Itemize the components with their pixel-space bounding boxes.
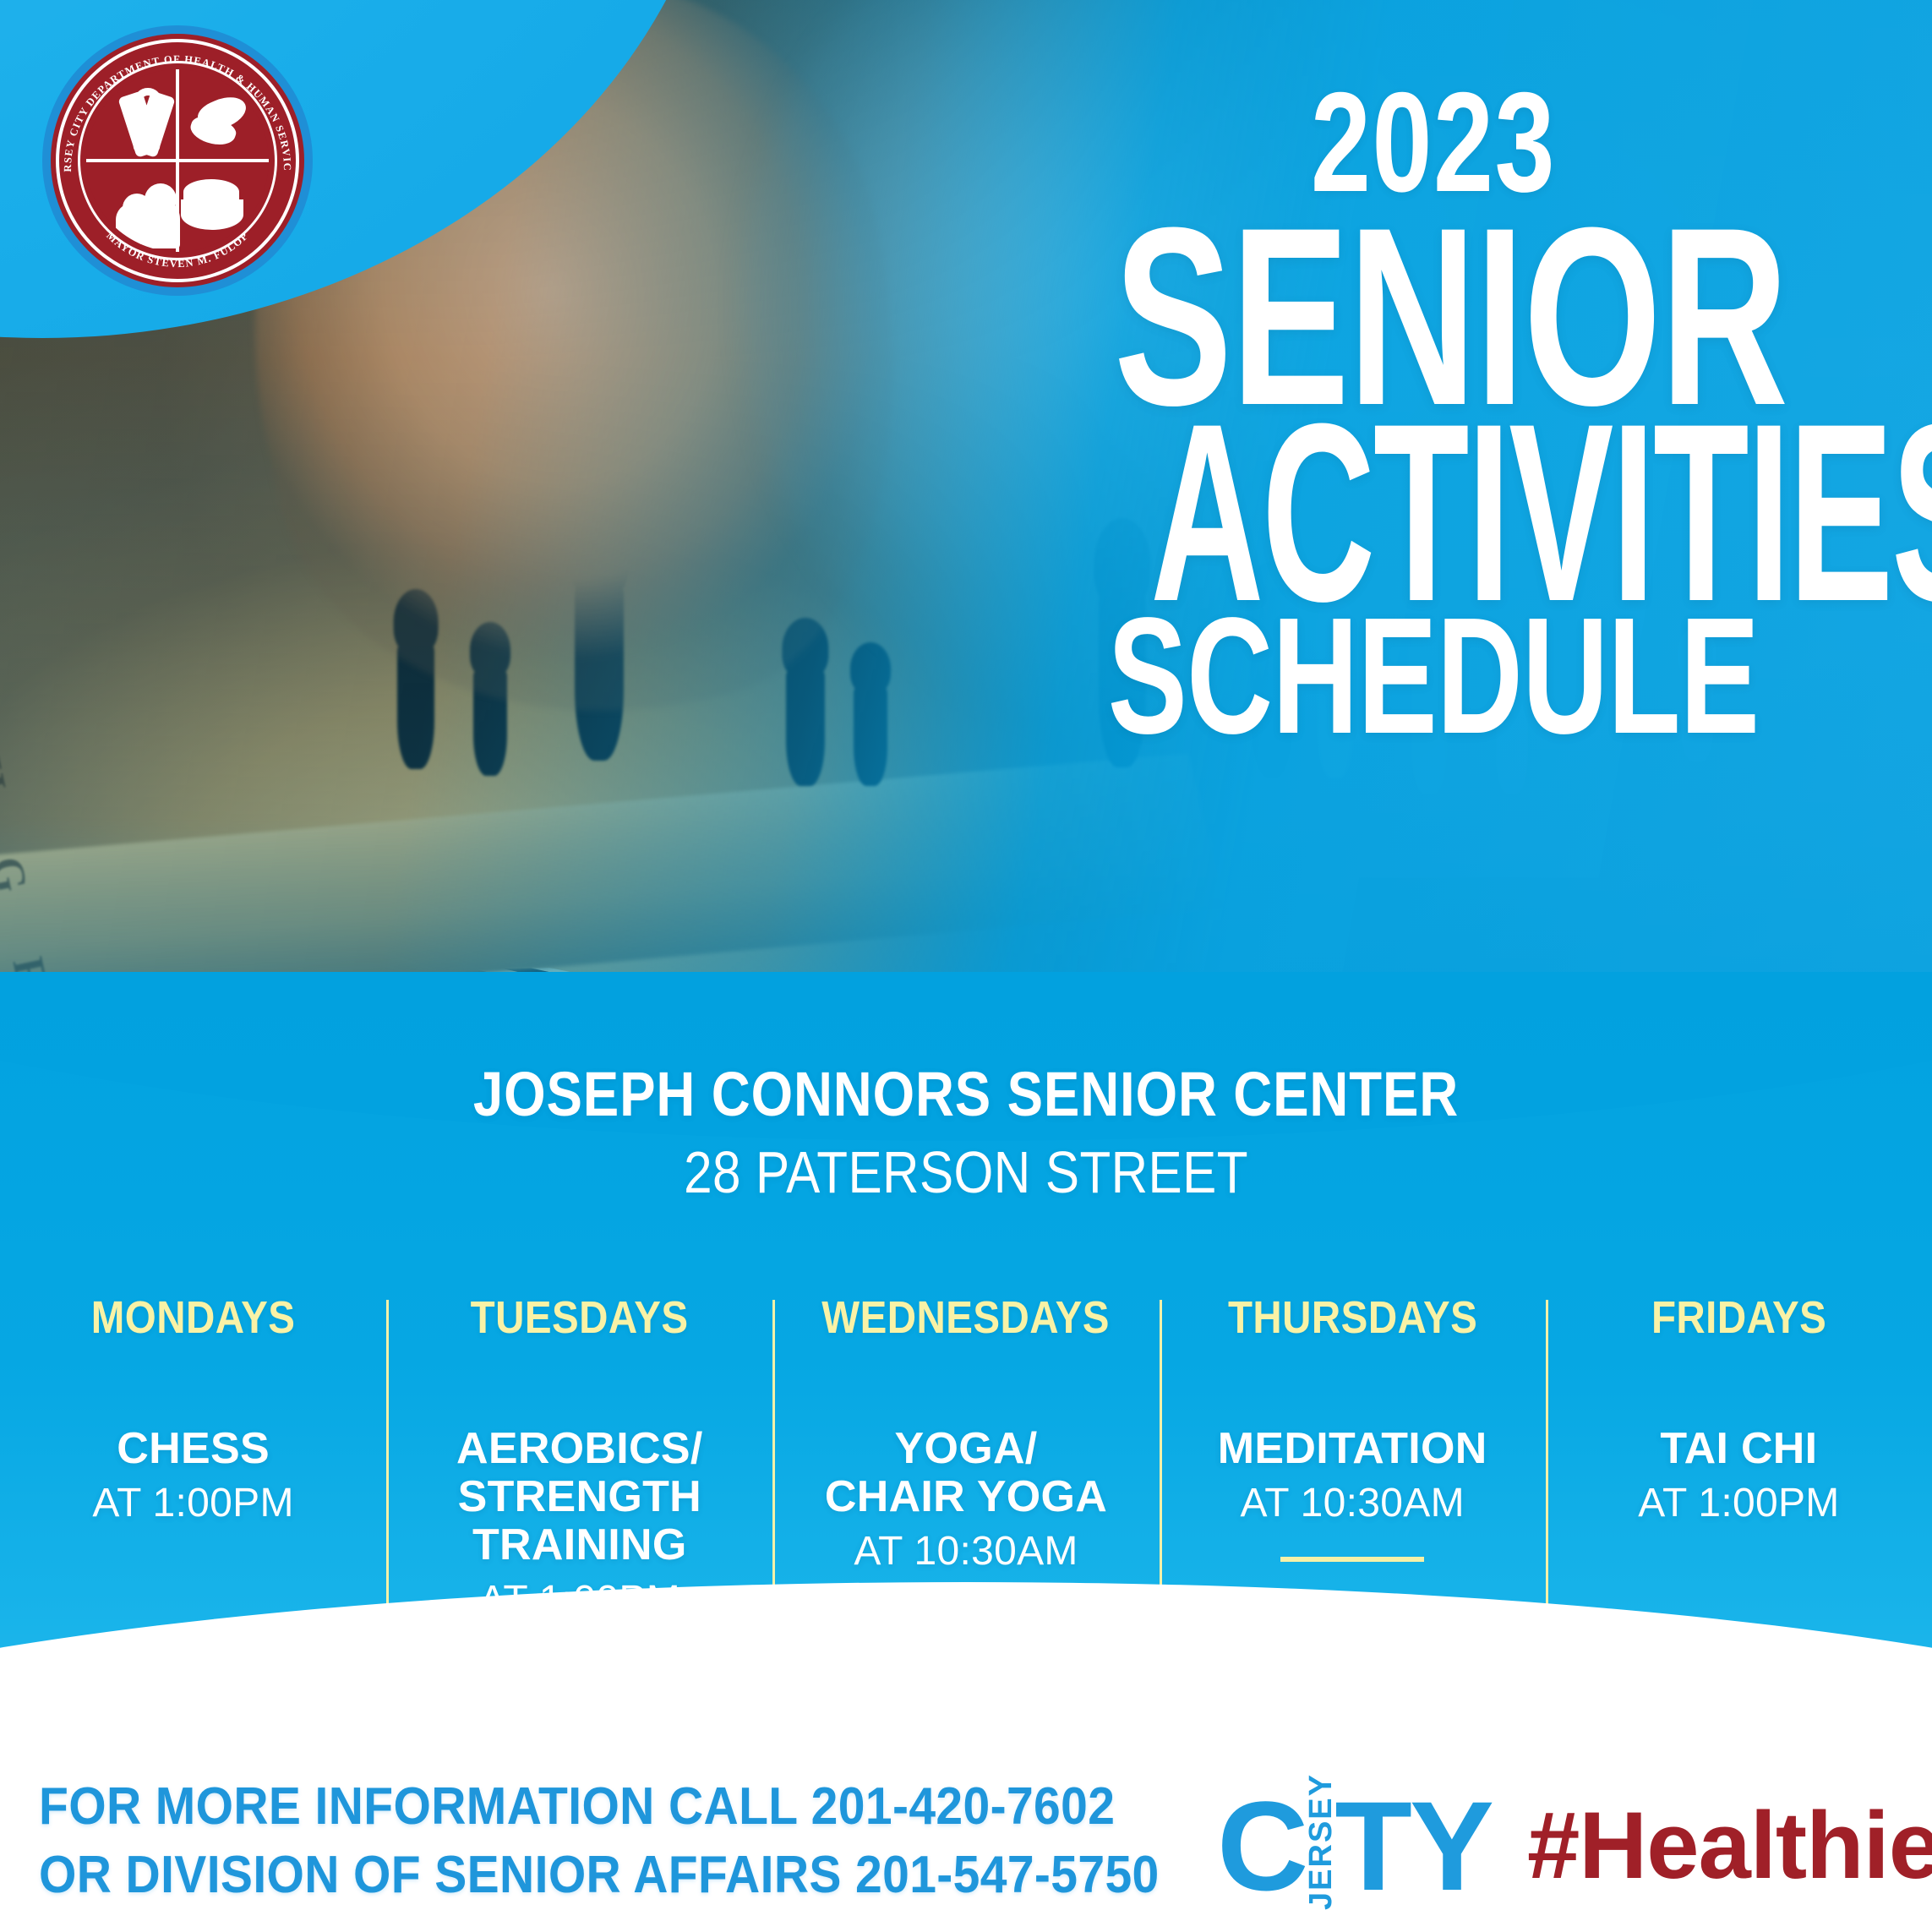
activity-time: AT 10:30AM (786, 1528, 1145, 1575)
hashtag-healthierjc: #HealthierJC (1527, 1798, 1932, 1893)
venue-address: 28 PATERSON STREET (135, 1138, 1797, 1206)
seal-curved-text: JERSEY CITY DEPARTMENT OF HEALTH & HUMAN… (42, 25, 313, 296)
activity-separator-rule (1280, 1557, 1424, 1562)
activity-entry: CHESS AT 1:00PM (14, 1425, 373, 1526)
logo-vertical-jersey: JERSEY (1303, 1773, 1340, 1910)
day-header-tuesday: TUESDAYS (422, 1291, 738, 1344)
venue-block: JOSEPH CONNORS SENIOR CENTER 28 PATERSON… (0, 1058, 1932, 1206)
day-header-friday: FRIDAYS (1580, 1291, 1897, 1344)
activity-name: MEDITATION (1173, 1425, 1532, 1473)
activity-entry: TAI CHI AT 1:00PM (1559, 1425, 1918, 1526)
activity-time: AT 1:00PM (1559, 1480, 1918, 1526)
day-header-wednesday: WEDNESDAYS (808, 1291, 1124, 1344)
contact-info-text: FOR MORE INFORMATION CALL 201-420-7602 O… (39, 1773, 1160, 1909)
activity-name: YOGA/CHAIR YOGA (786, 1425, 1145, 1521)
contact-line-2: OR DIVISION OF SENIOR AFFAIRS 201-547-57… (39, 1842, 1160, 1910)
seal-text-top: JERSEY CITY DEPARTMENT OF HEALTH & HUMAN… (42, 25, 293, 172)
activity-name: TAI CHI (1559, 1425, 1918, 1473)
poster-root: H G F E D C (0, 0, 1932, 1932)
day-header-monday: MONDAYS (35, 1291, 352, 1344)
activity-entry: MEDITATION AT 10:30AM (1173, 1425, 1532, 1526)
title-line-schedule: SCHEDULE (1105, 609, 1762, 745)
activity-name: AEROBICS/STRENGTHTRAINING (400, 1425, 759, 1570)
activity-entry: YOGA/CHAIR YOGA AT 10:30AM (786, 1425, 1145, 1575)
jersey-city-logo: C JERSEY TY #HealthierJC (1217, 1773, 1932, 1918)
poster-footer: FOR MORE INFORMATION CALL 201-420-7602 O… (0, 1765, 1932, 1932)
activity-name: CHESS (14, 1425, 373, 1473)
venue-name: JOSEPH CONNORS SENIOR CENTER (135, 1058, 1797, 1130)
seal-text-bottom: MAYOR STEVEN M. FULOP (104, 230, 251, 270)
day-header-thursday: THURSDAYS (1194, 1291, 1510, 1344)
activity-time: AT 1:00PM (14, 1480, 373, 1526)
activity-time: AT 10:30AM (1173, 1480, 1532, 1526)
contact-line-1: FOR MORE INFORMATION CALL 201-420-7602 (39, 1773, 1160, 1842)
logo-letter-c: C (1217, 1782, 1308, 1909)
jersey-city-health-seal-logo: JERSEY CITY DEPARTMENT OF HEALTH & HUMAN… (42, 25, 313, 296)
poster-title: 2023 SENIOR ACTIVITIES SCHEDULE (977, 81, 1890, 745)
logo-letters-ty: TY (1334, 1782, 1492, 1909)
